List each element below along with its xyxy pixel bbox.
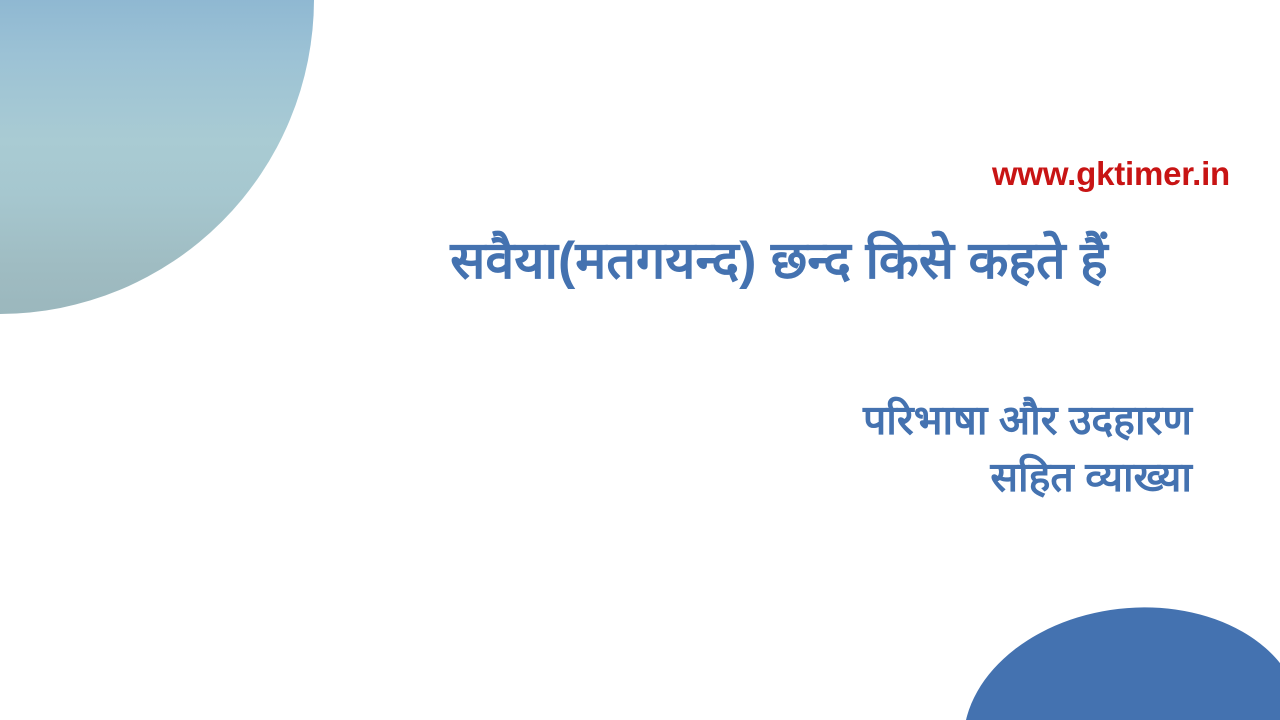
site-url-watermark: www.gktimer.in (530, 156, 1230, 192)
subtitle-block: परिभाषा और उदहारण सहित व्याख्या (320, 392, 1192, 505)
top-left-gradient-shape-decoration (0, 0, 314, 314)
page-title: सवैया(मतगयन्द) छन्द किसे कहते हैं (320, 230, 1238, 293)
title-block: सवैया(मतगयन्द) छन्द किसे कहते हैं (320, 230, 1238, 293)
thumbnail-slide: www.gktimer.in सवैया(मतगयन्द) छन्द किसे … (0, 0, 1280, 720)
subtitle-line-1: परिभाषा और उदहारण (320, 392, 1192, 449)
bottom-right-blue-curve-decoration (950, 590, 1280, 720)
subtitle-line-2: सहित व्याख्या (320, 449, 1192, 506)
